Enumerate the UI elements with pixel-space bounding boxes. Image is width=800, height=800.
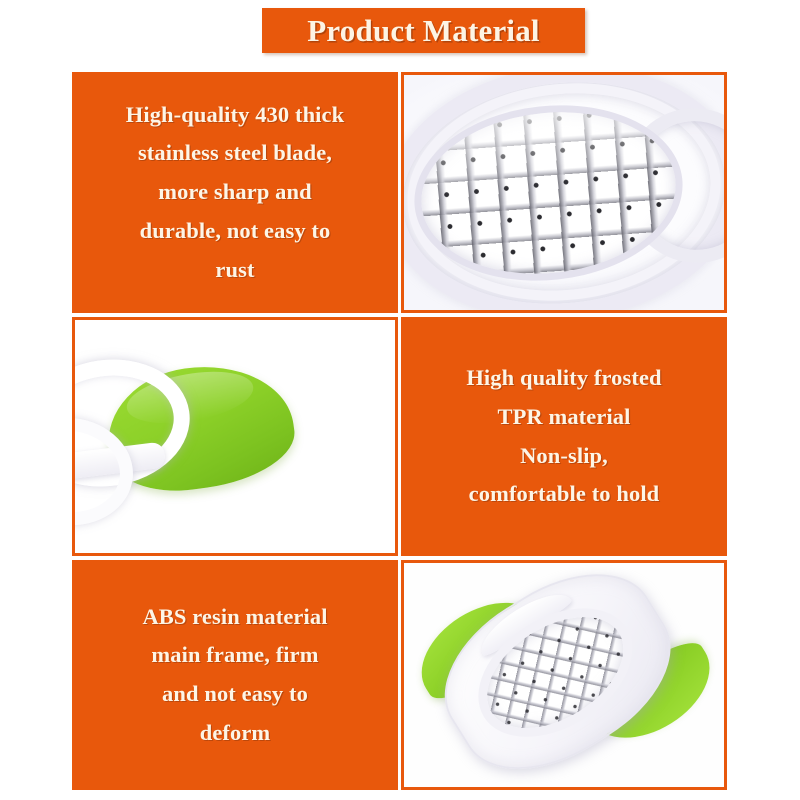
- panel-blade-text: High-quality 430 thickstainless steel bl…: [72, 72, 398, 313]
- panel-handle-photo: [72, 317, 398, 556]
- title-banner: Product Material: [262, 8, 585, 53]
- panel-handle-text: High quality frostedTPR materialNon-slip…: [401, 317, 727, 556]
- blade-grid-photo: [404, 75, 724, 310]
- panel-frame-photo: [401, 560, 727, 790]
- panel-blade-photo: [401, 72, 727, 313]
- product-material-infographic: Product Material High-quality 430 thicks…: [0, 0, 800, 800]
- blade-ring: [405, 92, 691, 293]
- blade-text-content: High-quality 430 thickstainless steel bl…: [126, 96, 345, 289]
- frame-text-content: ABS resin materialmain frame, firmand no…: [142, 598, 327, 753]
- green-handle-photo: [75, 320, 395, 553]
- feature-grid: High-quality 430 thickstainless steel bl…: [72, 72, 727, 790]
- panel-frame-text: ABS resin materialmain frame, firmand no…: [72, 560, 398, 790]
- page-title: Product Material: [307, 15, 539, 46]
- handle-text-content: High quality frostedTPR materialNon-slip…: [466, 359, 661, 514]
- full-product-photo: [404, 563, 724, 787]
